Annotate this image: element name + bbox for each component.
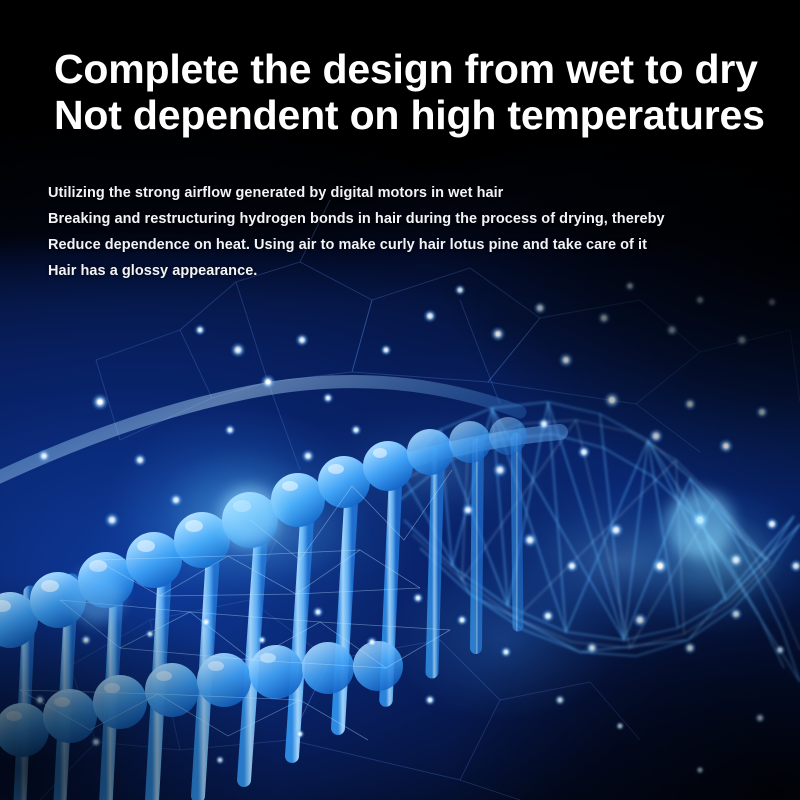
body-copy-block: Utilizing the strong airflow generated b… [48,180,748,284]
helix-overlay-mesh [20,470,452,740]
helix-haze [60,400,800,660]
wireframe-helix-mesh [400,402,800,682]
headline-line-2: Not dependent on high temperatures [54,92,794,138]
bloom-highlights [70,486,734,624]
product-feature-banner: Complete the design from wet to dry Not … [0,0,800,800]
headline-line-1: Complete the design from wet to dry [54,46,794,92]
body-copy-line-1: Utilizing the strong airflow generated b… [48,180,748,206]
helix-sphere-chain-lower [0,641,403,757]
helix-sphere-chain-upper [0,417,527,648]
helix-rungs [20,438,518,800]
helix-back-strand [0,382,520,486]
helix-front-backbone [0,432,560,640]
body-copy-line-4: Hair has a glossy appearance. [48,258,748,284]
lower-polygon-web [40,540,640,800]
body-copy-line-2: Breaking and restructuring hydrogen bond… [48,206,748,232]
headline-block: Complete the design from wet to dry Not … [54,46,794,138]
particle-nodes [34,280,800,775]
body-copy-line-3: Reduce dependence on heat. Using air to … [48,232,748,258]
